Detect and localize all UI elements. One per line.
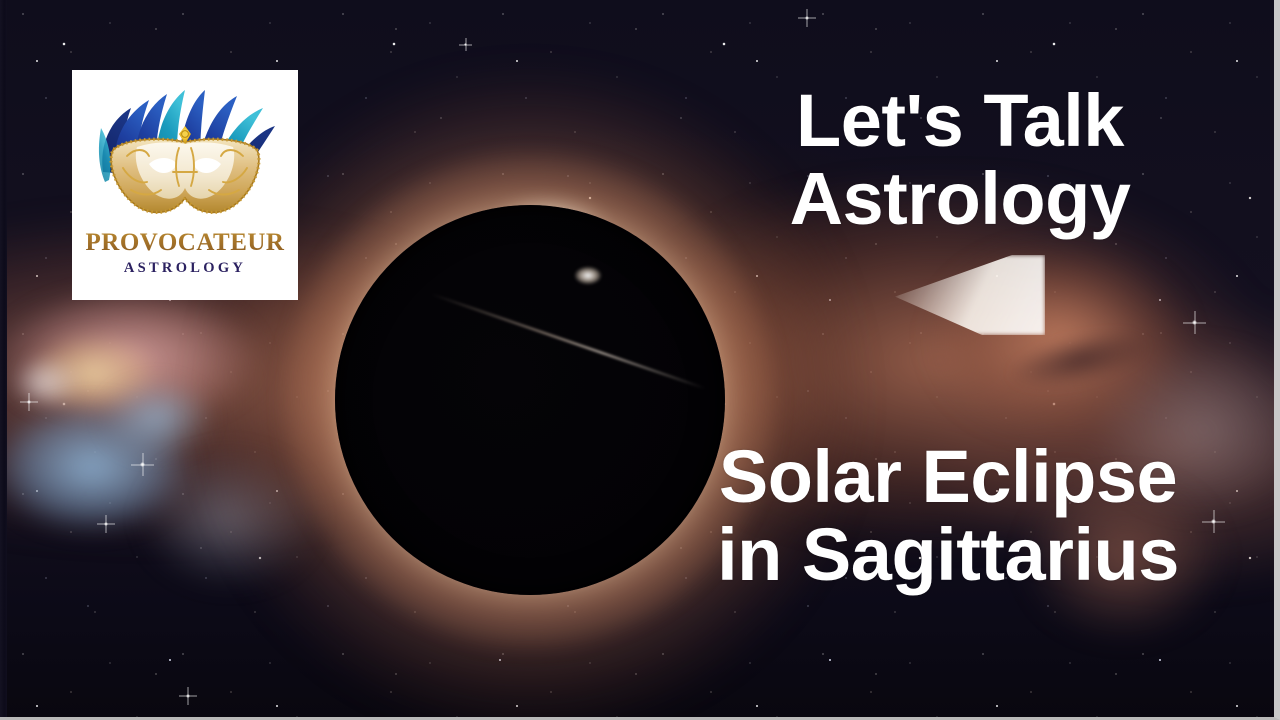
headline-top-line-2: Astrology (660, 160, 1260, 238)
headline-bottom-line-1: Solar Eclipse (630, 438, 1266, 516)
headline-bottom-line-2: in Sagittarius (630, 516, 1266, 594)
bright-star (464, 43, 467, 46)
bright-star (186, 694, 190, 698)
bright-star (27, 400, 31, 404)
masquerade-mask-icon (87, 80, 283, 226)
brand-logo-card[interactable]: PROVOCATEUR ASTROLOGY (72, 70, 298, 300)
bright-star (104, 522, 108, 526)
logo-brand-name: PROVOCATEUR (72, 230, 298, 255)
headline-top-line-1: Let's Talk (660, 82, 1260, 160)
headline-top: Let's Talk Astrology (660, 82, 1260, 239)
bright-star (1192, 320, 1197, 325)
headline-bottom: Solar Eclipse in Sagittarius (630, 438, 1266, 595)
frame-left-edge (0, 0, 7, 720)
eclipse-thumbnail: PROVOCATEUR ASTROLOGY Let's Talk Astrolo… (0, 0, 1280, 720)
logo-subtitle: ASTROLOGY (72, 260, 298, 277)
bright-star (140, 462, 145, 467)
bright-star (805, 16, 809, 20)
bailys-bead-highlight (575, 267, 601, 284)
